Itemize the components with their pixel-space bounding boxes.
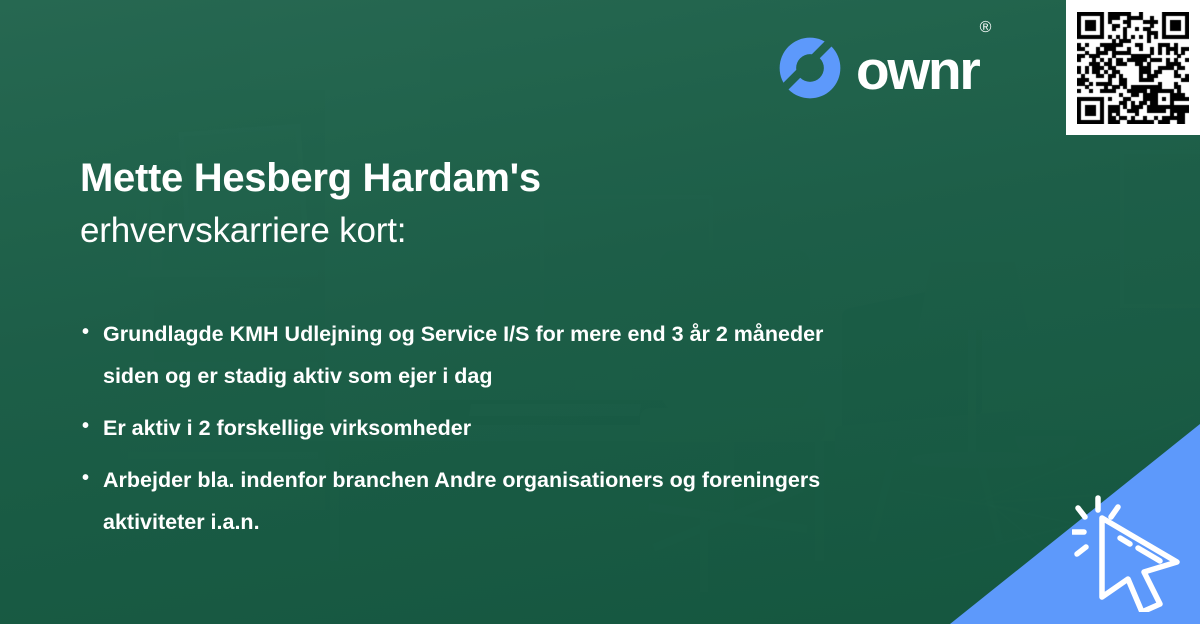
person-name-heading: Mette Hesberg Hardam's bbox=[80, 154, 780, 203]
ownr-circle-slash-icon bbox=[777, 35, 843, 101]
page-title: Mette Hesberg Hardam's erhvervskarriere … bbox=[80, 154, 780, 252]
list-item: Arbejder bla. indenfor branchen Andre or… bbox=[80, 460, 880, 544]
career-facts-list: Grundlagde KMH Udlejning og Service I/S … bbox=[80, 314, 880, 554]
registered-trademark-symbol: ® bbox=[980, 19, 992, 37]
ownr-logo[interactable]: ownr ® bbox=[777, 35, 990, 101]
list-item: Er aktiv i 2 forskellige virksomheder bbox=[80, 408, 880, 450]
ownr-wordmark: ownr bbox=[856, 43, 979, 98]
click-cursor-icon bbox=[1072, 494, 1182, 612]
career-card: ownr ® Mette Hesberg Hardam's erhvervska… bbox=[0, 0, 1200, 624]
subtitle-heading: erhvervskarriere kort: bbox=[80, 209, 780, 252]
qr-code[interactable] bbox=[1066, 0, 1200, 135]
list-item: Grundlagde KMH Udlejning og Service I/S … bbox=[80, 314, 880, 398]
